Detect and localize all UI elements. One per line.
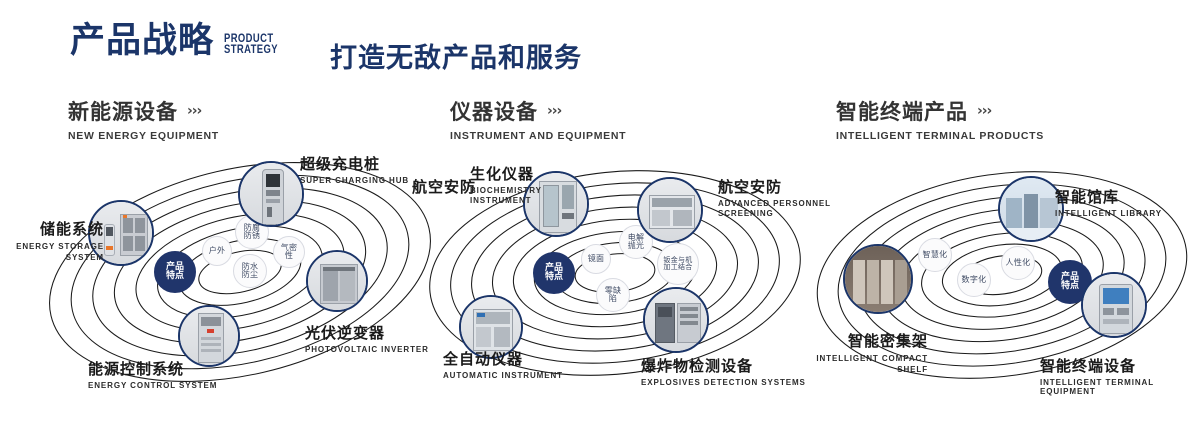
page-title-en-line2: STRATEGY bbox=[224, 45, 278, 56]
label-energy-storage-system: 储能系统 ENERGY STORAGESYSTEM bbox=[8, 218, 104, 263]
feature-bubble-humanization: 人性化 bbox=[1001, 246, 1035, 280]
section-title-en: INSTRUMENT AND EQUIPMENT bbox=[450, 130, 626, 142]
feature-bubble-airtightness: 气密性 bbox=[273, 236, 305, 268]
feature-bubble-label: 钣金与机加工结合 bbox=[663, 257, 693, 272]
section-title-cn: 智能终端产品 bbox=[836, 96, 968, 126]
chevrons-right-icon: ››› bbox=[547, 103, 561, 119]
poster-canvas: 产品战略 PRODUCT STRATEGY 打造无敌产品和服务 新能源设备 ››… bbox=[0, 0, 1200, 422]
page-title-en: PRODUCT STRATEGY bbox=[224, 34, 278, 56]
label-cn: 生化仪器 bbox=[470, 163, 542, 184]
center-bubble-label: 产品特点 bbox=[162, 263, 188, 282]
label-cn: 智能密集架 bbox=[810, 330, 928, 351]
label-cn: 超级充电桩 bbox=[300, 153, 409, 174]
chevrons-right-icon: ››› bbox=[187, 103, 201, 119]
label-super-charging-hub: 超级充电桩 SUPER CHARGING HUB bbox=[300, 153, 409, 185]
node-photovoltaic-inverter[interactable] bbox=[306, 250, 368, 312]
node-intelligent-terminal-equipment[interactable] bbox=[1081, 272, 1147, 338]
label-en: INTELLIGENT TERMINAL EQUIPMENT bbox=[1040, 378, 1200, 396]
feature-bubble-label: 零缺陷 bbox=[601, 287, 625, 304]
feature-bubble-label: 防水防尘 bbox=[241, 263, 259, 280]
label-cn: 能源控制系统 bbox=[88, 358, 217, 379]
label-automatic-instrument: 全自动仪器 AUTOMATIC INSTRUMENT bbox=[443, 348, 563, 380]
feature-bubble-outdoor: 户外 bbox=[202, 236, 232, 266]
center-bubble-label: 产品特点 bbox=[1057, 273, 1083, 292]
label-cn: 智能馆库 bbox=[1055, 186, 1162, 207]
label-photovoltaic-inverter: 光伏逆变器 PHOTOVOLTAIC INVERTER bbox=[305, 322, 429, 354]
label-en: ENERGY CONTROL SYSTEM bbox=[88, 381, 217, 390]
label-aviation-security-left: 航空安防 bbox=[404, 176, 476, 197]
label-cn: 全自动仪器 bbox=[443, 348, 563, 369]
feature-bubble-sheetmetal-machining: 钣金与机加工结合 bbox=[657, 243, 699, 285]
chevrons-right-icon: ››› bbox=[977, 103, 991, 119]
label-biochemistry-instrument: 生化仪器 BIOCHEMISTRYINSTRUMENT bbox=[470, 163, 542, 206]
section-title-cn: 仪器设备 bbox=[450, 96, 538, 126]
center-bubble-product-features: 产品特点 bbox=[533, 252, 575, 294]
label-en: ENERGY STORAGESYSTEM bbox=[8, 241, 104, 263]
label-en: INTELLIGENT LIBRARY bbox=[1055, 209, 1162, 218]
label-intelligent-compact-shelf: 智能密集架 INTELLIGENT COMPACTSHELF bbox=[810, 330, 928, 375]
label-cn: 爆炸物检测设备 bbox=[641, 355, 806, 376]
label-intelligent-terminal-equipment: 智能终端设备 INTELLIGENT TERMINAL EQUIPMENT bbox=[1040, 355, 1200, 396]
label-cn: 航空安防 bbox=[404, 176, 476, 197]
feature-bubble-label: 防腐防锈 bbox=[243, 224, 261, 241]
feature-bubble-mirror: 镜面 bbox=[581, 244, 611, 274]
terminal-kiosk-icon bbox=[1083, 274, 1145, 336]
label-energy-control-system: 能源控制系统 ENERGY CONTROL SYSTEM bbox=[88, 358, 217, 390]
feature-bubble-label: 智慧化 bbox=[923, 251, 948, 259]
node-explosives-detection-systems[interactable] bbox=[643, 287, 709, 353]
label-intelligent-library: 智能馆库 INTELLIGENT LIBRARY bbox=[1055, 186, 1162, 218]
control-cabinet-icon bbox=[180, 307, 238, 365]
center-bubble-product-features: 产品特点 bbox=[154, 251, 196, 293]
feature-bubble-label: 镜面 bbox=[588, 255, 605, 263]
label-cn: 光伏逆变器 bbox=[305, 322, 429, 343]
page-subtitle: 打造无敌产品和服务 bbox=[330, 36, 582, 75]
label-en: SUPER CHARGING HUB bbox=[300, 176, 409, 185]
section-heading-new-energy: 新能源设备 ››› NEW ENERGY EQUIPMENT bbox=[68, 96, 219, 142]
feature-bubble-zero-defect: 零缺陷 bbox=[596, 278, 630, 312]
page-title-cn: 产品战略 bbox=[70, 24, 214, 59]
center-bubble-label: 产品特点 bbox=[541, 264, 567, 283]
label-explosives-detection-systems: 爆炸物检测设备 EXPLOSIVES DETECTION SYSTEMS bbox=[641, 355, 806, 387]
label-en: EXPLOSIVES DETECTION SYSTEMS bbox=[641, 378, 806, 387]
feature-bubble-label: 气密性 bbox=[278, 244, 300, 261]
node-advanced-personnel-screening[interactable] bbox=[637, 177, 703, 243]
explosives-detector-icon bbox=[645, 289, 707, 351]
node-super-charging-hub[interactable] bbox=[238, 161, 304, 227]
section-title-cn: 新能源设备 bbox=[68, 96, 178, 126]
feature-bubble-label: 户外 bbox=[209, 247, 226, 255]
label-en: PHOTOVOLTAIC INVERTER bbox=[305, 345, 429, 354]
label-cn: 储能系统 bbox=[8, 218, 104, 239]
compact-shelf-icon bbox=[845, 246, 911, 312]
label-en: INTELLIGENT COMPACTSHELF bbox=[810, 353, 928, 375]
section-heading-intelligent-terminal: 智能终端产品 ››› INTELLIGENT TERMINAL PRODUCTS bbox=[836, 96, 1044, 142]
feature-bubble-label: 人性化 bbox=[1006, 259, 1031, 267]
feature-bubble-digitalization: 数字化 bbox=[957, 263, 991, 297]
feature-bubble-label: 数字化 bbox=[962, 276, 987, 284]
label-en: AUTOMATIC INSTRUMENT bbox=[443, 371, 563, 380]
section-title-en: NEW ENERGY EQUIPMENT bbox=[68, 130, 219, 142]
section-title-en: INTELLIGENT TERMINAL PRODUCTS bbox=[836, 130, 1044, 142]
section-heading-instrument: 仪器设备 ››› INSTRUMENT AND EQUIPMENT bbox=[450, 96, 626, 142]
library-shelves-icon bbox=[1000, 178, 1062, 240]
label-cn: 智能终端设备 bbox=[1040, 355, 1200, 376]
feature-bubble-waterproof: 防水防尘 bbox=[233, 254, 267, 288]
screening-machine-icon bbox=[639, 179, 701, 241]
feature-bubble-intelligentization: 智慧化 bbox=[918, 238, 952, 272]
node-intelligent-compact-shelf[interactable] bbox=[843, 244, 913, 314]
charging-pile-icon bbox=[240, 163, 302, 225]
label-en: BIOCHEMISTRYINSTRUMENT bbox=[470, 186, 542, 206]
page-header: 产品战略 PRODUCT STRATEGY bbox=[70, 24, 290, 59]
inverter-cabinet-icon bbox=[308, 252, 366, 310]
